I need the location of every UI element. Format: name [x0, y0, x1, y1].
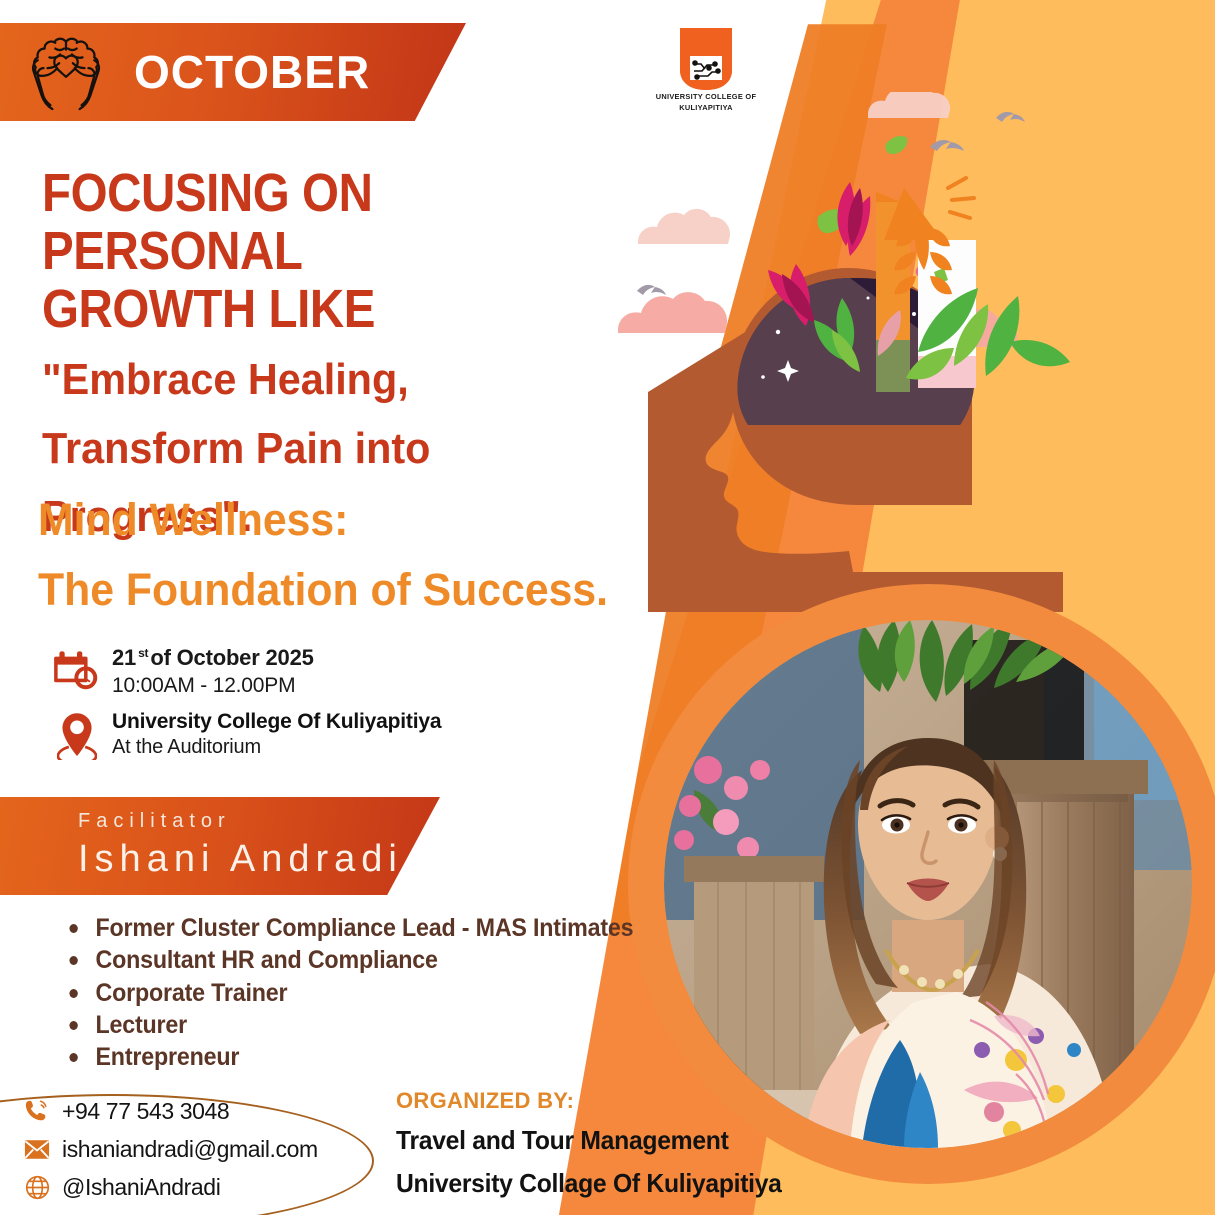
- headline-quote-line-2: Transform Pain into: [42, 423, 662, 475]
- organizer-line-2: University Collage Of Kuliyapitiya: [396, 1167, 782, 1200]
- month-label: OCTOBER: [134, 45, 370, 99]
- facilitator-label: Facilitator: [78, 810, 231, 833]
- event-date-day: 21: [112, 645, 136, 670]
- month-banner: OCTOBER: [0, 23, 466, 121]
- list-item: Consultant HR and Compliance: [62, 944, 633, 976]
- globe-icon: [20, 1175, 54, 1200]
- event-date-rest: of October 2025: [150, 645, 313, 670]
- credentials-list: Former Cluster Compliance Lead - MAS Int…: [62, 912, 676, 1073]
- datetime-text: 21stof October 2025 10:00AM - 12.00PM: [112, 645, 314, 698]
- contact-phone: +94 77 543 3048: [62, 1098, 229, 1125]
- headline-quote-line-1: "Embrace Healing,: [42, 354, 662, 406]
- event-time: 10:00AM - 12.00PM: [112, 674, 314, 698]
- organized-by-label: ORGANIZED BY:: [396, 1088, 802, 1114]
- subheadline-line-1: Mind Wellness:: [38, 485, 608, 555]
- contact-row-social[interactable]: @IshaniAndradi: [20, 1168, 318, 1206]
- contact-row-email[interactable]: ishaniandradi@gmail.com: [20, 1130, 318, 1168]
- contact-social: @IshaniAndradi: [62, 1174, 220, 1201]
- subheadline-line-2: The Foundation of Success.: [38, 555, 608, 625]
- logo-line-2: KULIYAPITIYA: [679, 103, 733, 114]
- contact-row-phone[interactable]: +94 77 543 3048: [20, 1092, 318, 1130]
- phone-icon: [20, 1098, 54, 1124]
- event-venue: University College Of Kuliyapitiya: [112, 710, 441, 734]
- event-date-ordinal: st: [138, 646, 148, 660]
- envelope-icon: [20, 1139, 54, 1160]
- brain-in-hands-icon: [22, 33, 110, 111]
- headline-line-1: FOCUSING ON PERSONAL: [42, 165, 623, 281]
- list-item: Former Cluster Compliance Lead - MAS Int…: [62, 912, 633, 944]
- u-logo-mark: [668, 26, 744, 92]
- university-logo: UNIVERSITY COLLEGE OF KULIYAPITIYA: [648, 18, 764, 130]
- organized-by-block: ORGANIZED BY: Travel and Tour Management…: [396, 1088, 802, 1199]
- list-item: Entrepreneur: [62, 1041, 633, 1073]
- event-date: 21stof October 2025: [112, 645, 314, 671]
- detail-row-venue: University College Of Kuliyapitiya At th…: [48, 710, 588, 760]
- event-poster: OCTOBER UNIVERSITY COLLEGE OF: [0, 0, 1215, 1215]
- contact-block: +94 77 543 3048 ishaniandradi@gmail.com: [20, 1092, 318, 1206]
- list-item: Lecturer: [62, 1009, 633, 1041]
- logo-line-1: UNIVERSITY COLLEGE OF: [656, 92, 757, 103]
- organizer-line-1: Travel and Tour Management: [396, 1124, 782, 1157]
- contact-email: ishaniandradi@gmail.com: [62, 1136, 318, 1163]
- location-pin-icon: [48, 710, 106, 760]
- venue-text: University College Of Kuliyapitiya At th…: [112, 710, 441, 759]
- facilitator-photo: [664, 620, 1192, 1148]
- detail-row-datetime: 21stof October 2025 10:00AM - 12.00PM: [48, 645, 588, 698]
- facilitator-name: Ishani Andradi: [78, 838, 403, 881]
- calendar-clock-icon: [48, 645, 106, 691]
- event-details: 21stof October 2025 10:00AM - 12.00PM Un…: [48, 645, 588, 760]
- subheadline-block: Mind Wellness: The Foundation of Success…: [38, 485, 608, 625]
- headline-line-2: GROWTH LIKE: [42, 281, 623, 339]
- event-room: At the Auditorium: [112, 736, 441, 759]
- list-item: Corporate Trainer: [62, 977, 633, 1009]
